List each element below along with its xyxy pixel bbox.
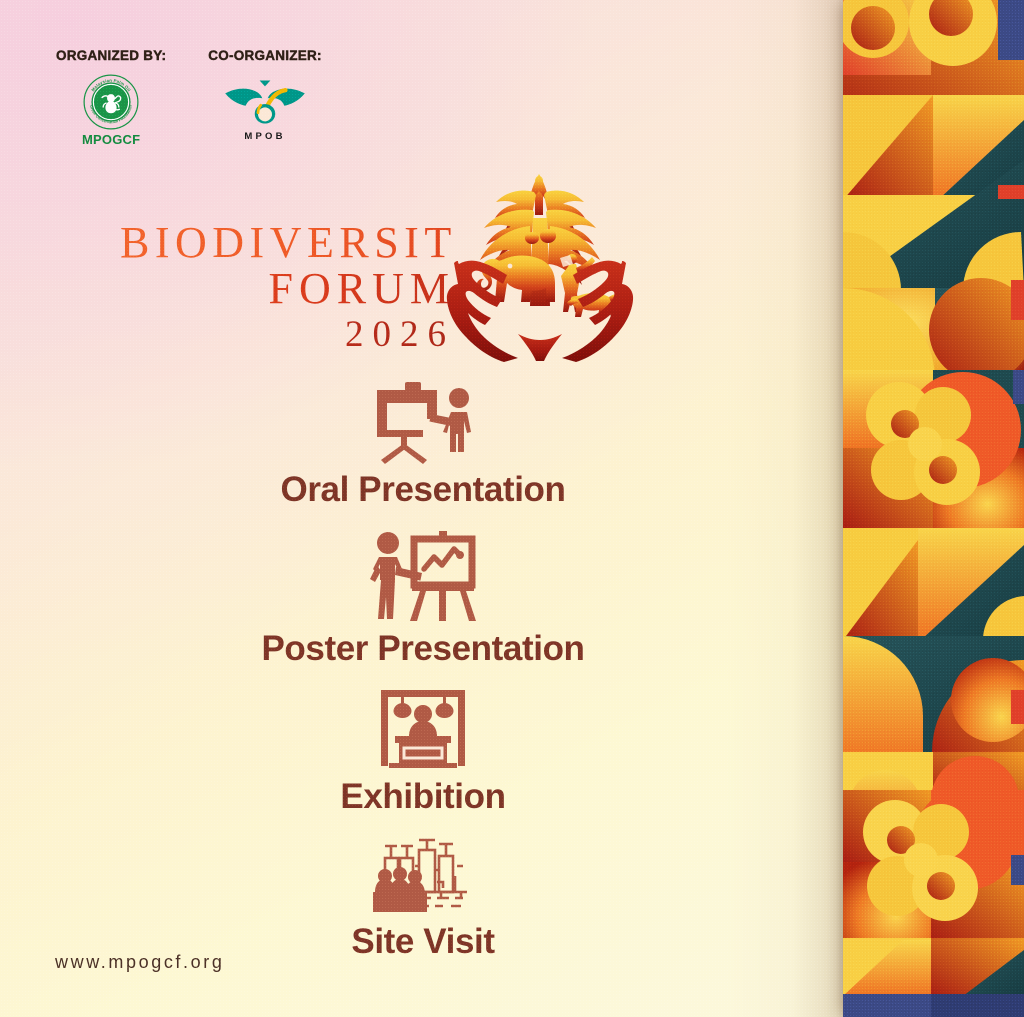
decorative-pattern-strip: [843, 0, 1024, 1017]
presentation-board-speaker-icon: [369, 376, 477, 464]
easel-chart-presenter-icon: [368, 529, 478, 621]
mpob-emblem-icon: [222, 74, 308, 130]
programme-list: Oral Presentation: [0, 376, 846, 959]
mpogcf-wordmark: MPOGCF: [82, 132, 140, 147]
programme-label-poster-presentation: Poster Presentation: [261, 631, 584, 666]
main-panel: ORGANIZED BY:: [0, 0, 846, 1017]
exhibition-booth-icon: [377, 688, 469, 770]
hands-holding-palm-tree-icon: [440, 158, 640, 363]
programme-label-site-visit: Site Visit: [351, 924, 494, 959]
mpob-logo-wrap: MPOB: [222, 74, 308, 142]
programme-label-oral-presentation: Oral Presentation: [281, 472, 566, 507]
title-line-biodiversity: BIODIVERSITY: [120, 222, 455, 264]
mpogcf-logo-wrap: Malaysian Palm Oil Green Conservation Fo…: [82, 74, 140, 147]
title-line-year: 2026: [120, 316, 455, 355]
mpob-wordmark: MPOB: [244, 131, 285, 142]
page-title: BIODIVERSITY FORUM 2026: [120, 222, 455, 355]
title-lockup: BIODIVERSITY FORUM 2026: [0, 150, 846, 365]
mpogcf-emblem-icon: Malaysian Palm Oil Green Conservation Fo…: [83, 74, 139, 130]
programme-label-exhibition: Exhibition: [340, 779, 505, 814]
co-organizer-caption: CO-ORGANIZER:: [208, 48, 322, 63]
organizer-header: ORGANIZED BY:: [56, 48, 322, 147]
group-visiting-factory-icon: [371, 836, 475, 914]
programme-item-site-visit[interactable]: Site Visit: [0, 836, 846, 959]
title-line-forum: FORUM: [120, 266, 455, 312]
programme-item-exhibition[interactable]: Exhibition: [0, 688, 846, 814]
organized-by-caption: ORGANIZED BY:: [56, 48, 166, 63]
website-url[interactable]: www.mpogcf.org: [55, 952, 224, 973]
co-organizer-block: CO-ORGANIZER:: [208, 48, 322, 142]
geometric-pattern-graphic: [843, 0, 1024, 1017]
programme-item-oral-presentation[interactable]: Oral Presentation: [0, 376, 846, 507]
programme-item-poster-presentation[interactable]: Poster Presentation: [0, 529, 846, 666]
poster-canvas: ORGANIZED BY:: [0, 0, 1024, 1017]
organized-by-block: ORGANIZED BY:: [56, 48, 166, 147]
